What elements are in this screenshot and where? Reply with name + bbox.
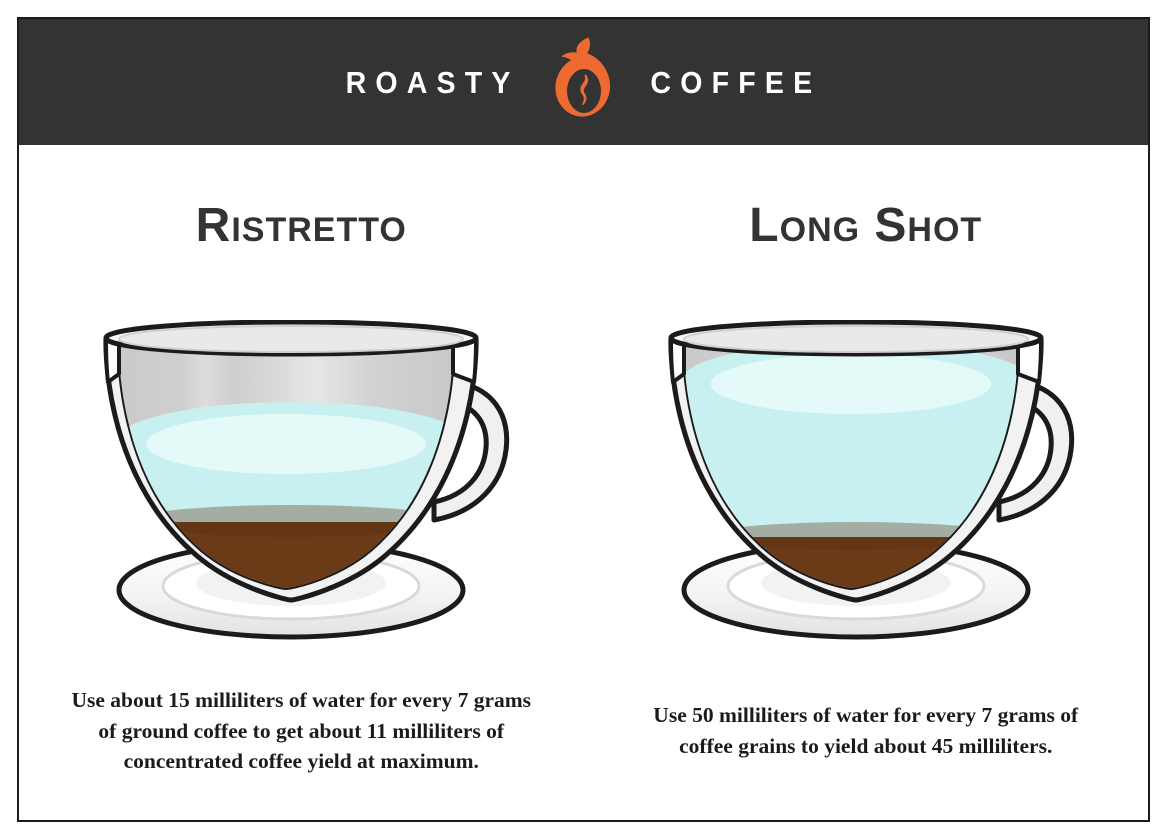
flame-icon bbox=[555, 36, 615, 128]
column-ristretto: Ristretto bbox=[19, 145, 584, 820]
glass-coffee-cup-icon bbox=[86, 320, 516, 650]
caption-long-shot: Use 50 milliliters of water for every 7 … bbox=[631, 700, 1101, 761]
cup-illustration-long-shot bbox=[651, 320, 1081, 650]
brand-name-left: ROASTY bbox=[346, 67, 520, 98]
caption-ristretto: Use about 15 milliliters of water for ev… bbox=[66, 685, 536, 777]
content-area: Ristretto bbox=[19, 145, 1148, 820]
column-long-shot: Long Shot bbox=[584, 145, 1149, 820]
infographic-card: ROASTY COFFEE Ristretto bbox=[17, 17, 1150, 822]
column-title-long-shot: Long Shot bbox=[584, 202, 1149, 250]
brand-name-right: COFFEE bbox=[651, 67, 822, 98]
cup-illustration-ristretto bbox=[86, 320, 516, 650]
glass-coffee-cup-icon bbox=[651, 320, 1081, 650]
brand-header: ROASTY COFFEE bbox=[19, 19, 1148, 145]
column-title-ristretto: Ristretto bbox=[19, 202, 584, 250]
comparison-columns: Ristretto bbox=[19, 145, 1148, 820]
infographic-root: ROASTY COFFEE Ristretto bbox=[0, 0, 1167, 839]
